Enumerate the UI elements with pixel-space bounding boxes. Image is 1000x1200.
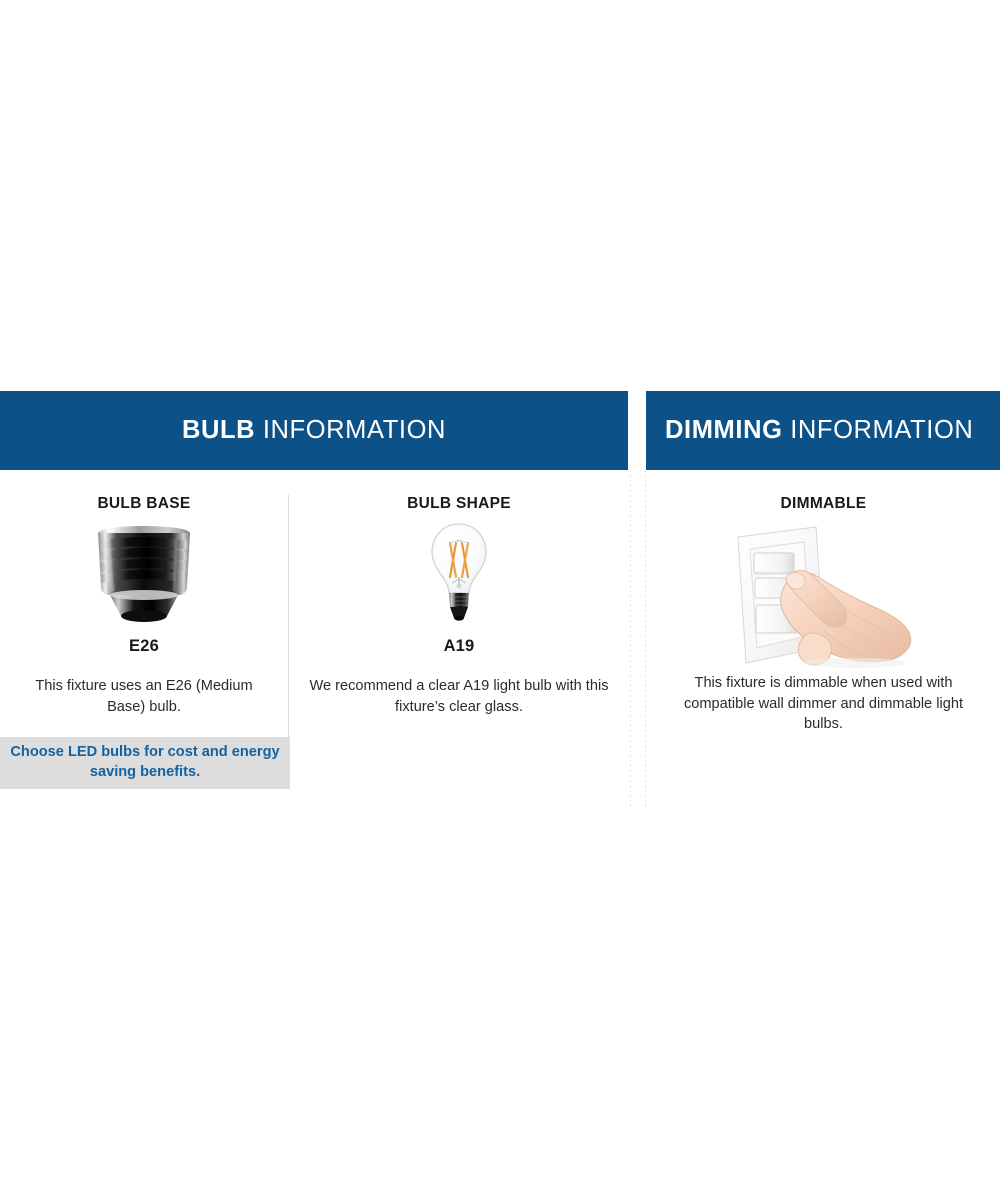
column-divider <box>288 495 289 745</box>
bulb-base-column: BULB BASE <box>0 470 288 717</box>
bulb-information-title-strong: BULB <box>182 416 255 444</box>
bulb-shape-figure <box>290 523 628 635</box>
dimmable-heading: DIMMABLE <box>647 470 1000 513</box>
dimming-information-header: DIMMING INFORMATION <box>646 391 1000 470</box>
information-content: BULB BASE <box>0 470 1000 810</box>
panel-divider-dotted-right <box>645 470 646 810</box>
bulb-base-figure <box>0 523 288 635</box>
e26-screw-base-icon <box>88 523 200 623</box>
a19-bulb-icon <box>423 521 495 629</box>
bulb-information-title: BULB INFORMATION <box>182 416 446 445</box>
dimming-information-title: DIMMING INFORMATION <box>665 416 973 445</box>
bulb-information-header: BULB INFORMATION <box>0 391 628 470</box>
led-savings-callout-text: Choose LED bulbs for cost and energy sav… <box>0 743 290 782</box>
panel-divider-dotted-left <box>630 470 631 810</box>
panel-headers: BULB INFORMATION DIMMING INFORMATION <box>0 391 1000 470</box>
dimming-information-title-strong: DIMMING <box>665 416 783 444</box>
bulb-shape-description: We recommend a clear A19 light bulb with… <box>290 676 628 717</box>
bulb-shape-column: BULB SHAPE <box>290 470 628 717</box>
bulb-information-title-rest: INFORMATION <box>255 416 446 444</box>
bulb-base-description: This fixture uses an E26 (Medium Base) b… <box>0 676 288 717</box>
dimming-information-title-rest: INFORMATION <box>783 416 974 444</box>
bulb-shape-caption: A19 <box>290 637 628 656</box>
led-savings-callout: Choose LED bulbs for cost and energy sav… <box>0 737 290 789</box>
dimmable-description: This fixture is dimmable when used with … <box>647 673 1000 735</box>
bulb-base-caption: E26 <box>0 637 288 656</box>
bulb-base-heading: BULB BASE <box>0 470 288 513</box>
bulb-shape-heading: BULB SHAPE <box>290 470 628 513</box>
wall-dimmer-switch-icon <box>724 517 924 669</box>
dimmable-column: DIMMABLE <box>647 470 1000 735</box>
dimmable-figure <box>647 521 1000 671</box>
